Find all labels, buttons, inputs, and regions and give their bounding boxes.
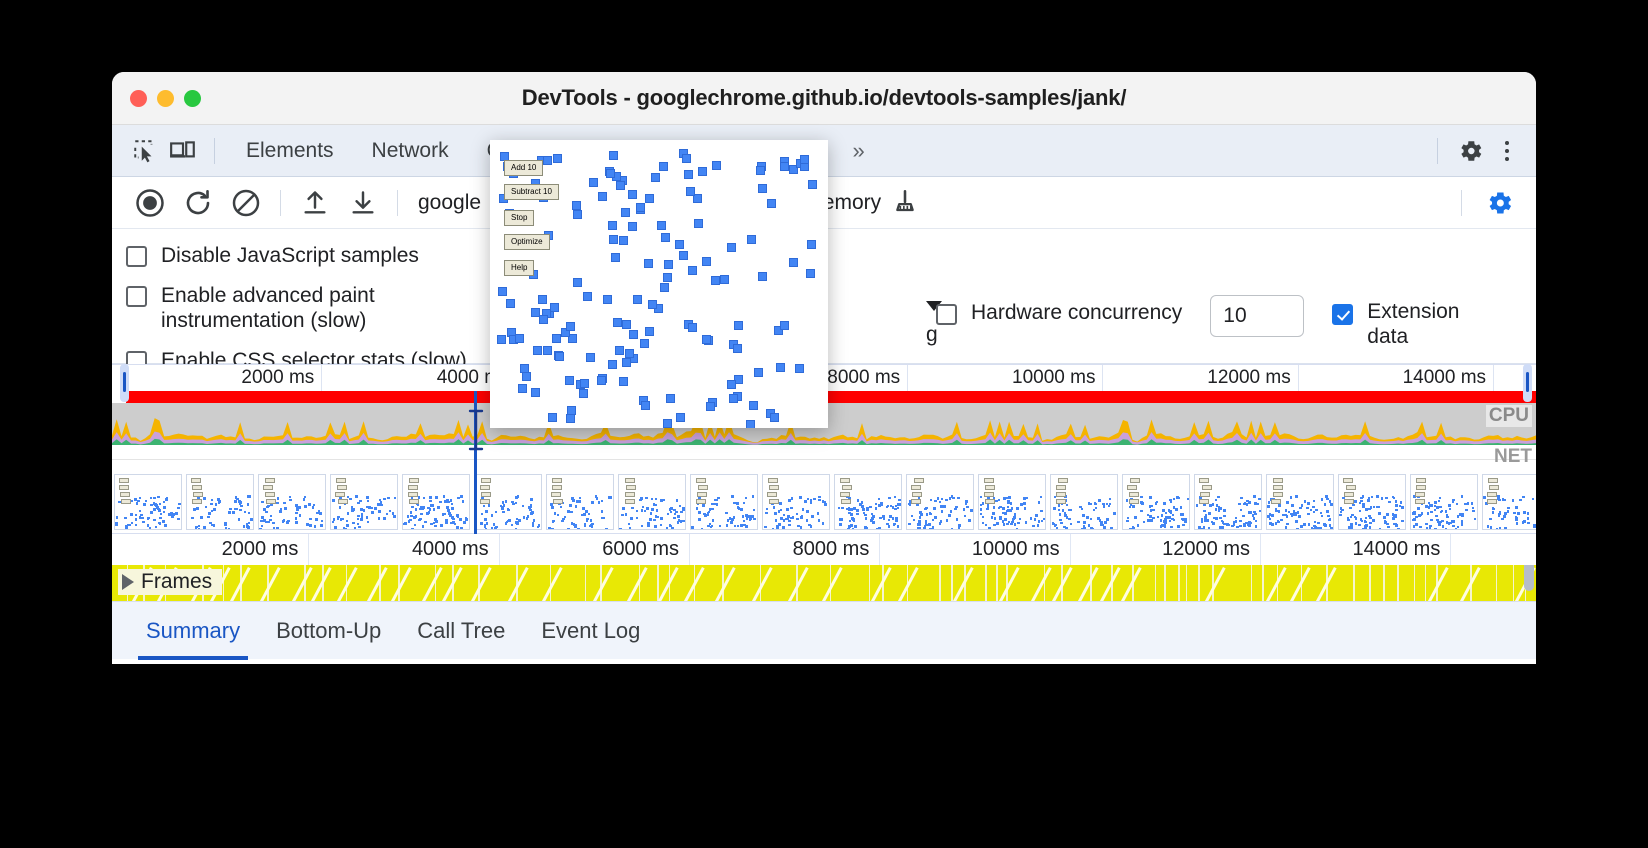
flamechart-ruler-divider <box>1070 534 1071 565</box>
filmstrip-thumbnail[interactable] <box>690 474 758 530</box>
flamechart-ruler-divider <box>879 534 880 565</box>
filmstrip-thumbnail[interactable] <box>1410 474 1478 530</box>
flamechart-ruler-divider <box>1260 534 1261 565</box>
flamechart-ruler[interactable]: 2000 ms4000 ms6000 ms8000 ms10000 ms1200… <box>112 533 1536 565</box>
overview-ruler-tick: 8000 ms <box>827 367 907 389</box>
overview-ruler-tick: 10000 ms <box>1012 367 1102 389</box>
tab-elements[interactable]: Elements <box>227 125 353 177</box>
flamechart-ruler-tick: 2000 ms <box>222 538 309 561</box>
filmstrip-thumbnail[interactable] <box>474 474 542 530</box>
overview-ruler-divider <box>321 365 322 391</box>
flamechart-playhead[interactable] <box>474 472 477 534</box>
overview-window-right-handle[interactable] <box>1523 364 1532 402</box>
toolbar-divider-3 <box>1461 190 1462 216</box>
record-and-reload-button[interactable] <box>174 181 222 225</box>
filmstrip-thumbnail[interactable] <box>618 474 686 530</box>
flamechart-ruler-tick: 8000 ms <box>793 538 880 561</box>
advanced-paint-checkbox[interactable] <box>126 286 147 307</box>
kebab-menu-icon[interactable] <box>1490 132 1524 170</box>
flamechart-ruler-divider <box>1450 534 1451 565</box>
cpu-label: CPU <box>1486 405 1532 427</box>
overview-ruler-divider <box>1493 365 1494 391</box>
hardware-concurrency-group: Hardware concurrency 10 Extension data <box>936 295 1487 363</box>
frames-track[interactable]: Frames <box>112 565 1536 601</box>
flamechart-ruler-divider <box>689 534 690 565</box>
device-toolbar-icon[interactable] <box>164 132 202 170</box>
filmstrip-thumbnail[interactable] <box>1194 474 1262 530</box>
net-label: NET <box>1494 446 1532 468</box>
playhead-drag-handle-icon[interactable] <box>466 408 486 452</box>
details-tabbar: Summary Bottom-Up Call Tree Event Log <box>112 601 1536 659</box>
broom-icon[interactable] <box>881 181 929 225</box>
capture-settings-gear-icon[interactable] <box>1476 181 1524 225</box>
tab-call-tree[interactable]: Call Tree <box>399 602 523 660</box>
flamechart-ruler-divider <box>308 534 309 565</box>
popup-button-stop[interactable]: Stop <box>504 210 534 226</box>
tab-network[interactable]: Network <box>353 125 468 177</box>
record-button[interactable] <box>126 181 174 225</box>
filmstrip-thumbnail[interactable] <box>834 474 902 530</box>
hardware-concurrency-input[interactable]: 10 <box>1210 295 1304 337</box>
tabbar-divider <box>214 138 215 164</box>
hardware-concurrency-label: Hardware concurrency <box>971 301 1182 325</box>
filmstrip-thumbnail[interactable] <box>906 474 974 530</box>
filmstrip-thumbnail[interactable] <box>258 474 326 530</box>
filmstrip-thumbnail[interactable] <box>402 474 470 530</box>
overview-net-strip[interactable]: NET <box>112 445 1536 471</box>
save-profile-icon[interactable] <box>339 181 387 225</box>
more-tabs-icon[interactable]: » <box>838 125 876 177</box>
disable-js-samples-checkbox[interactable] <box>126 246 147 267</box>
tabbar-right-divider <box>1437 138 1438 164</box>
hardware-concurrency-checkbox[interactable] <box>936 304 957 325</box>
flamechart-scrollbar[interactable] <box>1524 565 1534 591</box>
filmstrip-thumbnail[interactable] <box>114 474 182 530</box>
profile-selector-label[interactable]: google <box>418 191 481 215</box>
overview-window-left-handle[interactable] <box>120 364 129 402</box>
screenshot-root: DevTools - googlechrome.github.io/devtoo… <box>0 0 1648 848</box>
extension-data-label: Extension data <box>1367 299 1487 349</box>
disable-js-samples-label: Disable JavaScript samples <box>161 243 419 269</box>
overview-ruler-tick: 12000 ms <box>1207 367 1297 389</box>
popup-button-optimize[interactable]: Optimize <box>504 234 550 250</box>
toolbar-divider-1 <box>280 190 281 216</box>
overview-ruler-tick: 2000 ms <box>241 367 321 389</box>
popup-button-help[interactable]: Help <box>504 260 534 276</box>
filmstrip-thumbnail[interactable] <box>1050 474 1118 530</box>
triangle-right-icon[interactable] <box>122 574 134 590</box>
filmstrip-thumbnail[interactable] <box>1338 474 1406 530</box>
overview-ruler-divider <box>1102 365 1103 391</box>
load-profile-icon[interactable] <box>291 181 339 225</box>
filmstrip-thumbnail[interactable] <box>1482 474 1536 530</box>
filmstrip-thumbnail[interactable] <box>762 474 830 530</box>
overview-filmstrip[interactable] <box>112 471 1536 533</box>
frames-group-header[interactable]: Frames <box>118 569 222 595</box>
flamechart-ruler-tick: 4000 ms <box>412 538 499 561</box>
filmstrip-thumbnail[interactable] <box>1122 474 1190 530</box>
tab-summary[interactable]: Summary <box>128 602 258 660</box>
overview-ruler-divider <box>907 365 908 391</box>
advanced-paint-label: Enable advanced paint instrumentation (s… <box>161 283 471 334</box>
net-baseline <box>112 459 1536 460</box>
popup-button-add-10[interactable]: Add 10 <box>504 160 543 176</box>
window-title: DevTools - googlechrome.github.io/devtoo… <box>112 85 1536 111</box>
flamechart-ruler-tick: 10000 ms <box>972 538 1070 561</box>
extension-data-checkbox[interactable] <box>1332 304 1353 325</box>
frames-bars <box>112 565 1536 601</box>
filmstrip-thumbnail[interactable] <box>1266 474 1334 530</box>
filmstrip-thumbnail[interactable] <box>186 474 254 530</box>
flamechart-ruler-tick: 6000 ms <box>602 538 689 561</box>
popup-button-subtract-10[interactable]: Subtract 10 <box>504 184 559 200</box>
window-titlebar: DevTools - googlechrome.github.io/devtoo… <box>112 72 1536 125</box>
hardware-concurrency-value: 10 <box>1223 304 1246 328</box>
record-toolbar-right <box>1447 181 1536 225</box>
filmstrip-thumbnail[interactable] <box>330 474 398 530</box>
flamechart-ruler-tick: 14000 ms <box>1353 538 1451 561</box>
overview-ruler-divider <box>1298 365 1299 391</box>
tabbar-right-actions <box>1429 132 1536 170</box>
page-preview-popup[interactable]: Add 10Subtract 10StopOptimizeHelp <box>490 140 828 428</box>
overview-ruler-tick: 14000 ms <box>1403 367 1493 389</box>
filmstrip-thumbnail[interactable] <box>978 474 1046 530</box>
frames-label-text: Frames <box>141 570 212 594</box>
tab-bottom-up[interactable]: Bottom-Up <box>258 602 399 660</box>
settings-gear-icon[interactable] <box>1452 132 1490 170</box>
inspect-element-icon[interactable] <box>126 132 164 170</box>
clear-button[interactable] <box>222 181 270 225</box>
tab-event-log[interactable]: Event Log <box>523 602 658 660</box>
filmstrip-thumbnail[interactable] <box>546 474 614 530</box>
overview-recording-bar-fill <box>126 391 1536 403</box>
toolbar-divider-2 <box>397 190 398 216</box>
flamechart-ruler-tick: 12000 ms <box>1162 538 1260 561</box>
flamechart-ruler-divider <box>499 534 500 565</box>
